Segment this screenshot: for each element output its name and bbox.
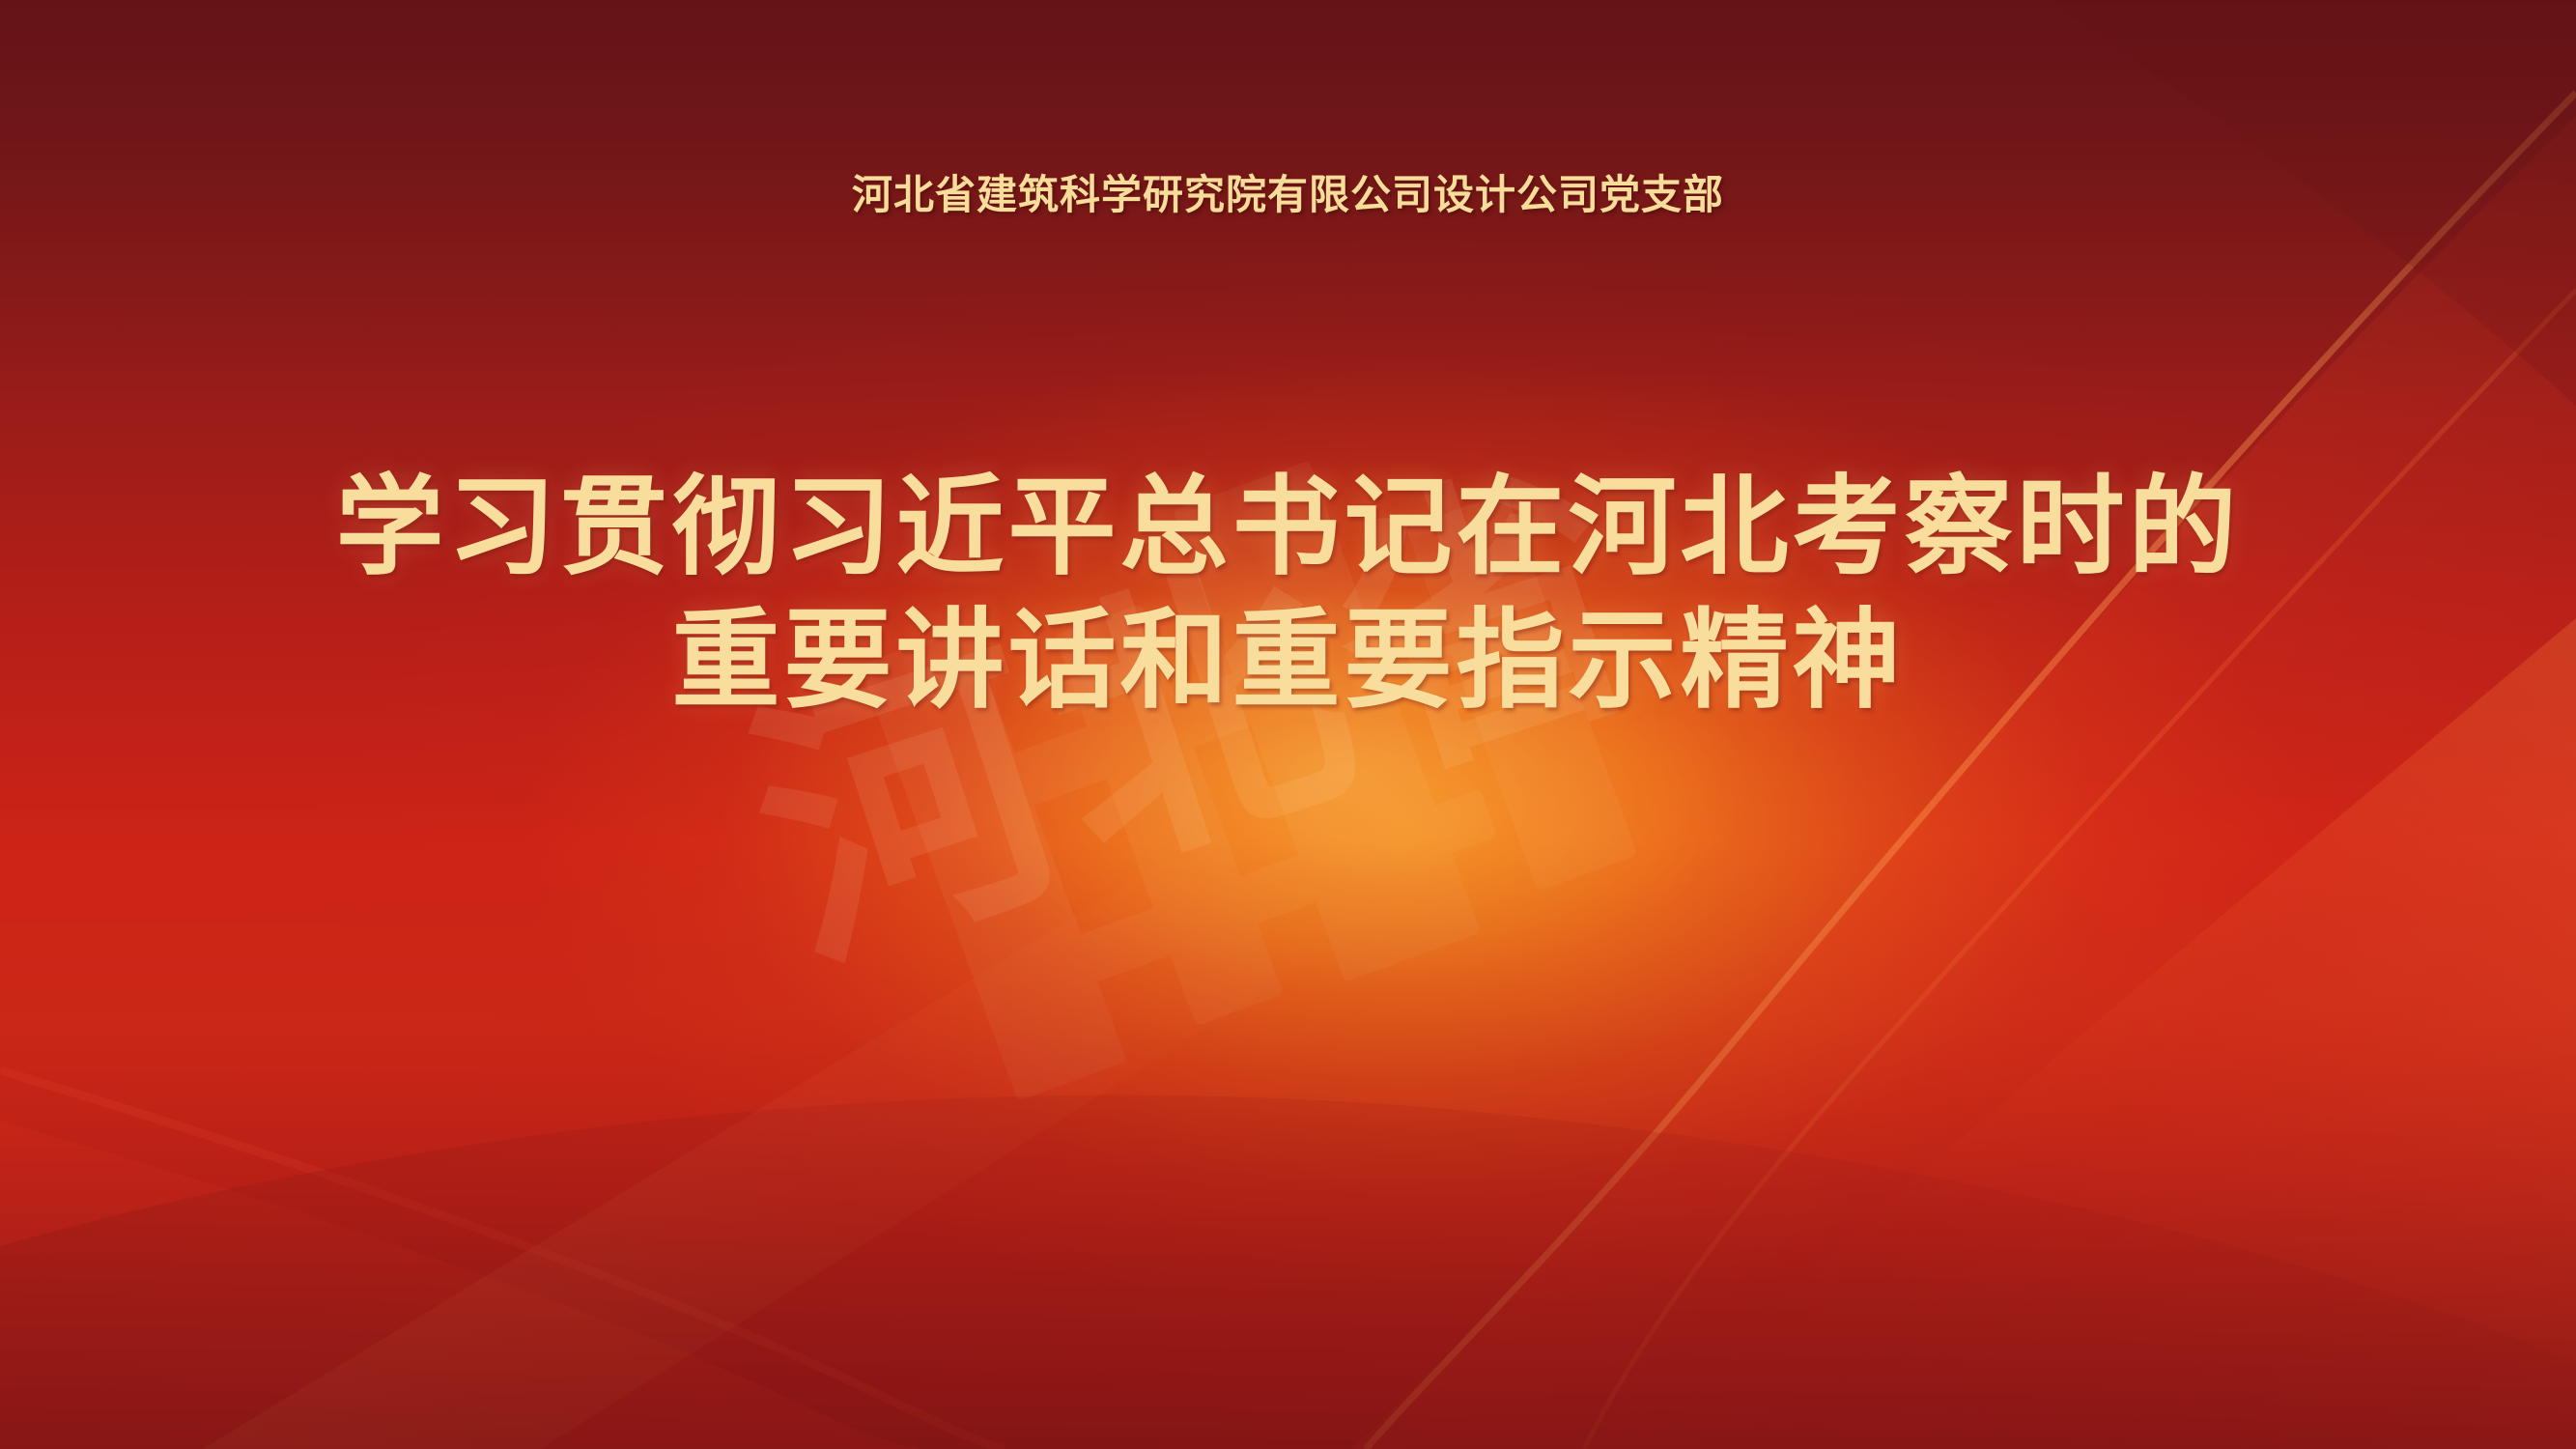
organization-subtitle: 河北省建筑科学研究院有限公司设计公司党支部 xyxy=(0,162,2576,221)
title-line-2: 重要讲话和重要指示精神 xyxy=(0,595,2576,728)
title-line-1: 学习贯彻习近平总书记在河北考察时的 xyxy=(0,462,2576,595)
page-title: 学习贯彻习近平总书记在河北考察时的 重要讲话和重要指示精神 xyxy=(0,462,2576,728)
presentation-slide: 河北省 河北省建筑科学研究院有限公司设计公司党支部 学习贯彻习近平总书记在河北考… xyxy=(0,0,2576,1449)
